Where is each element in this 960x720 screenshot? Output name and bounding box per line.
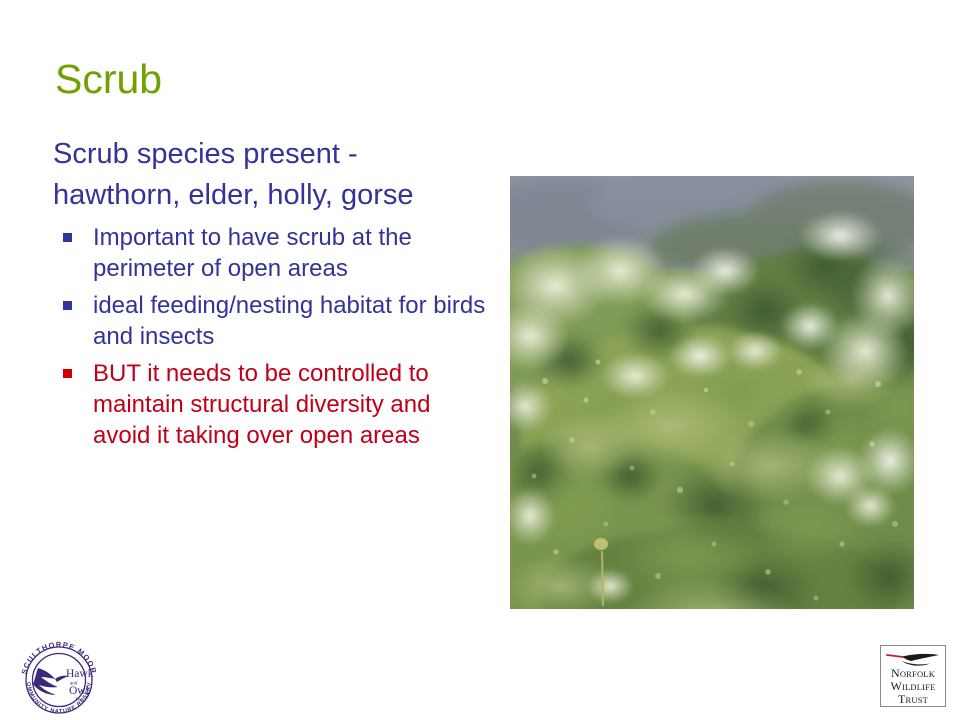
bird-icon [33, 668, 68, 695]
page-title: Scrub [55, 55, 655, 103]
square-bullet-icon [63, 301, 72, 310]
slide-canvas: Scrub Scrub species present - hawthorn, … [0, 0, 960, 720]
sculthorpe-moor-logo: SCULTHORPE MOOR COMMUNITY NATURE RESERVE… [14, 640, 108, 716]
square-bullet-icon [63, 369, 72, 378]
scrub-photograph-image [510, 176, 914, 609]
nwt-line-2: WILDLIFE [881, 680, 945, 693]
list-item-label: BUT it needs to be controlled to maintai… [93, 360, 430, 449]
logo-word-hawk: Hawk [66, 668, 94, 680]
body-content: Scrub species present - hawthorn, elder,… [53, 134, 493, 457]
list-item-label: ideal feeding/nesting habitat for birds … [93, 292, 485, 350]
sculthorpe-moor-logo-icon: SCULTHORPE MOOR COMMUNITY NATURE RESERVE… [14, 640, 108, 716]
norfolk-wildlife-trust-logo: NORFOLK WILDLIFE TRUST [880, 645, 946, 707]
norfolk-wildlife-trust-wordmark: NORFOLK WILDLIFE TRUST [881, 667, 945, 706]
lead-paragraph: Scrub species present - hawthorn, elder,… [53, 134, 473, 216]
list-item: Important to have scrub at the perimeter… [53, 222, 493, 284]
list-item-label: Important to have scrub at the perimeter… [93, 224, 412, 282]
list-item: BUT it needs to be controlled to maintai… [53, 358, 493, 451]
list-item: ideal feeding/nesting habitat for birds … [53, 290, 493, 352]
nwt-line-3: TRUST [881, 693, 945, 706]
logo-word-trust: Trust [75, 697, 85, 702]
scrub-photograph [510, 176, 914, 609]
bullet-list: Important to have scrub at the perimeter… [53, 222, 493, 451]
square-bullet-icon [63, 233, 72, 242]
logo-word-owl: Owl [69, 685, 89, 697]
avocet-bird-icon [881, 648, 945, 668]
